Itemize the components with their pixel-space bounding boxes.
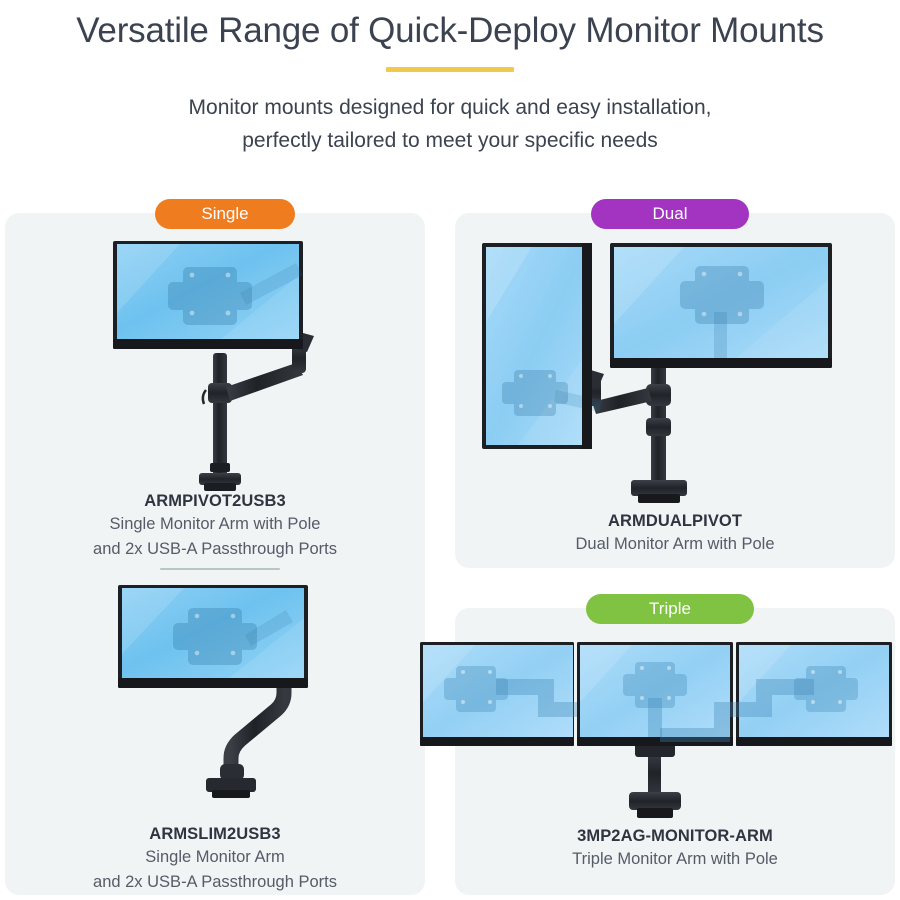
- subtitle-line-2: perfectly tailored to meet your specific…: [90, 125, 810, 158]
- page-subtitle: Monitor mounts designed for quick and ea…: [90, 92, 810, 157]
- desc-line-1: Triple Monitor Arm with Pole: [465, 849, 885, 871]
- product-image-3mp2ag-monitor-arm: [420, 632, 892, 824]
- accent-rule: [386, 67, 514, 72]
- product-image-armslim2usb3: [100, 580, 362, 812]
- sku-label: ARMDUALPIVOT: [465, 512, 885, 531]
- product-image-armdualpivot: [452, 232, 900, 510]
- desc-line-1: Single Monitor Arm with Pole: [15, 514, 415, 536]
- infographic-page: Versatile Range of Quick-Deploy Monitor …: [0, 0, 900, 900]
- caption-3mp2ag-monitor-arm: 3MP2AG-MONITOR-ARM Triple Monitor Arm wi…: [465, 827, 885, 871]
- badge-dual: Dual: [591, 199, 749, 229]
- caption-armslim2usb3: ARMSLIM2USB3 Single Monitor Arm and 2x U…: [15, 825, 415, 894]
- header: Versatile Range of Quick-Deploy Monitor …: [0, 0, 900, 157]
- product-image-armpivot2usb3: [100, 235, 362, 497]
- desc-line-1: Dual Monitor Arm with Pole: [465, 534, 885, 556]
- desc-line-2: and 2x USB-A Passthrough Ports: [15, 872, 415, 894]
- sku-label: ARMPIVOT2USB3: [15, 492, 415, 511]
- desc-line-2: and 2x USB-A Passthrough Ports: [15, 539, 415, 561]
- caption-armpivot2usb3: ARMPIVOT2USB3 Single Monitor Arm with Po…: [15, 492, 415, 561]
- sku-label: ARMSLIM2USB3: [15, 825, 415, 844]
- card-divider: [160, 568, 280, 570]
- caption-armdualpivot: ARMDUALPIVOT Dual Monitor Arm with Pole: [465, 512, 885, 556]
- badge-single: Single: [155, 199, 295, 229]
- page-title: Versatile Range of Quick-Deploy Monitor …: [0, 10, 900, 51]
- badge-triple: Triple: [586, 594, 754, 624]
- desc-line-1: Single Monitor Arm: [15, 847, 415, 869]
- sku-label: 3MP2AG-MONITOR-ARM: [465, 827, 885, 846]
- subtitle-line-1: Monitor mounts designed for quick and ea…: [90, 92, 810, 125]
